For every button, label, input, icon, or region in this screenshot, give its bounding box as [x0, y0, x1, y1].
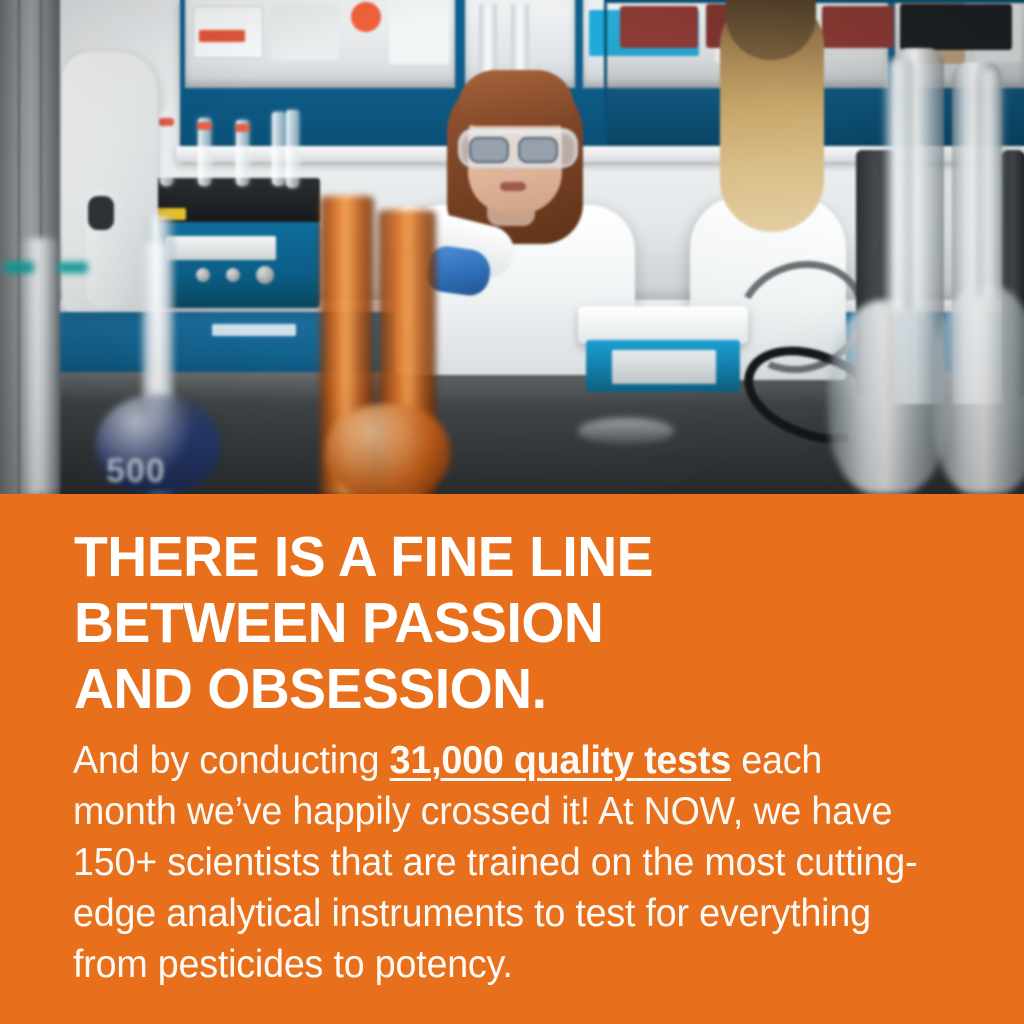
- laboratory-photo: 500: [0, 0, 1024, 494]
- bench-label-3: [212, 324, 296, 336]
- page-title: THERE IS A FINE LINE BETWEEN PASSION AND…: [74, 524, 947, 722]
- safety-goggles: [458, 128, 578, 168]
- instrument-knob-2: [226, 268, 240, 282]
- petri-dish: [578, 418, 674, 444]
- center-scientist-mouth: [500, 182, 526, 191]
- flask-volume-label: 500: [106, 452, 166, 491]
- instrument-knob-1: [196, 268, 210, 282]
- goggles-lens-left: [469, 137, 509, 163]
- body-copy: And by conducting 31,000 quality tests e…: [73, 735, 922, 990]
- teal-cap-right: [58, 262, 88, 273]
- sample-tube-cap-3: [235, 124, 250, 132]
- sample-tube-4: [272, 112, 285, 186]
- foreground-pipette-left: [22, 238, 58, 494]
- left-scientist-hand: [88, 196, 114, 230]
- white-lab-module: [578, 306, 748, 344]
- sample-tube-cap-1: [159, 118, 174, 126]
- cabinet-shelf-1: [185, 0, 455, 88]
- sample-tube-cap-2: [197, 122, 212, 130]
- flask-neck: [142, 242, 172, 402]
- door-frame-seam-1: [18, 0, 20, 494]
- amber-flask-bulb: [326, 404, 450, 494]
- foreground-flask-right-2: [932, 286, 1024, 494]
- cabinet-contents-red-3: [822, 6, 894, 48]
- shelf-label-red: [199, 30, 245, 42]
- quality-tests-highlight: 31,000 quality tests: [390, 739, 731, 782]
- cabinet-contents-red-1: [620, 6, 698, 48]
- shelf-box-grey: [271, 4, 339, 60]
- instrument-display: [166, 236, 276, 260]
- instrument-knob-3: [256, 266, 274, 284]
- shelf-label-orange: [351, 2, 381, 32]
- goggles-lens-right: [518, 137, 558, 163]
- blue-module-panel: [612, 350, 716, 384]
- sample-tube-5: [286, 110, 299, 188]
- cabinet-contents-dark: [900, 4, 1012, 50]
- foreground-flask-neck-right-2: [976, 70, 1004, 300]
- body-copy-before: And by conducting: [73, 739, 390, 782]
- foreground-flask-neck-right: [884, 60, 914, 310]
- foreground-flask-right-1: [828, 300, 948, 494]
- teal-cap-left: [4, 262, 34, 273]
- shelf-box-tall: [389, 0, 449, 64]
- center-scientist-hair-front: [458, 70, 574, 126]
- promo-card: 500 THERE IS A FINE LINE BETWEEN PASSION…: [0, 0, 1024, 1024]
